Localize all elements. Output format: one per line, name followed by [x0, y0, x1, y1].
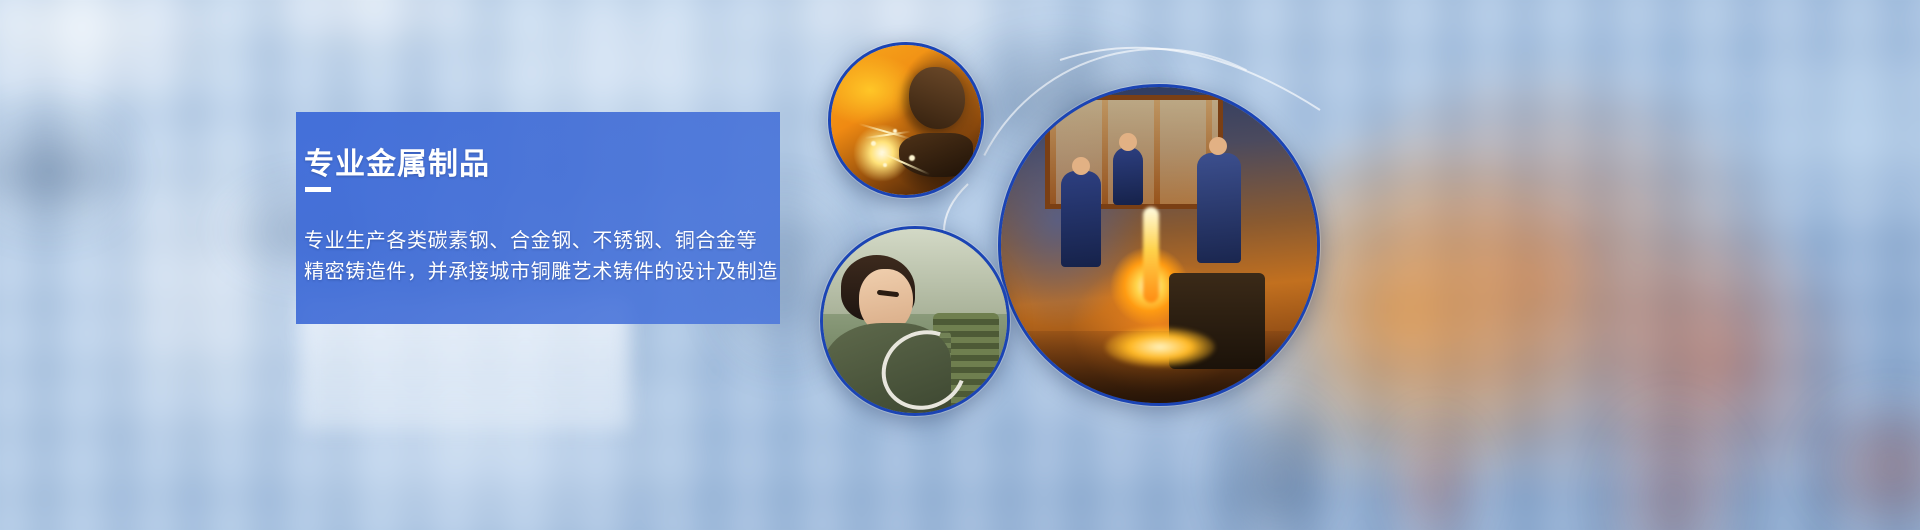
spark-dot — [893, 129, 897, 133]
spark-dot — [883, 163, 887, 167]
description-line-1: 专业生产各类碳素钢、合金钢、不锈钢、铜合金等 — [304, 226, 778, 257]
molten-metal-pour — [1143, 207, 1159, 303]
molten-metal-glow — [1105, 327, 1215, 367]
title-divider-rule — [305, 187, 331, 192]
foundry-photo-fill — [1001, 87, 1317, 403]
inspector-photo-fill — [823, 229, 1007, 413]
foundry-worker-1-head — [1072, 157, 1090, 175]
panel-description: 专业生产各类碳素钢、合金钢、不锈钢、铜合金等 精密铸造件，并承接城市铜雕艺术铸件… — [304, 226, 778, 288]
foundry-worker-2-head — [1119, 133, 1137, 151]
page-title: 专业金属制品 — [304, 139, 490, 183]
foundry-worker-2 — [1113, 147, 1143, 205]
welder-helmet — [909, 67, 965, 129]
company-hero-banner: 专业金属制品 专业生产各类碳素钢、合金钢、不锈钢、铜合金等 精密铸造件，并承接城… — [0, 0, 1920, 530]
welding-sparks-photo — [828, 42, 984, 198]
description-line-2: 精密铸造件，并承接城市铜雕艺术铸件的设计及制造 — [304, 257, 778, 288]
spark-dot — [871, 141, 876, 146]
female-inspector-photo — [820, 226, 1010, 416]
foundry-worker-1 — [1061, 171, 1101, 267]
foundry-worker-3 — [1197, 153, 1241, 263]
welding-photo-fill — [831, 45, 981, 195]
foundry-pouring-photo — [998, 84, 1320, 406]
spark-dot — [909, 155, 915, 161]
foundry-worker-3-head — [1209, 137, 1227, 155]
